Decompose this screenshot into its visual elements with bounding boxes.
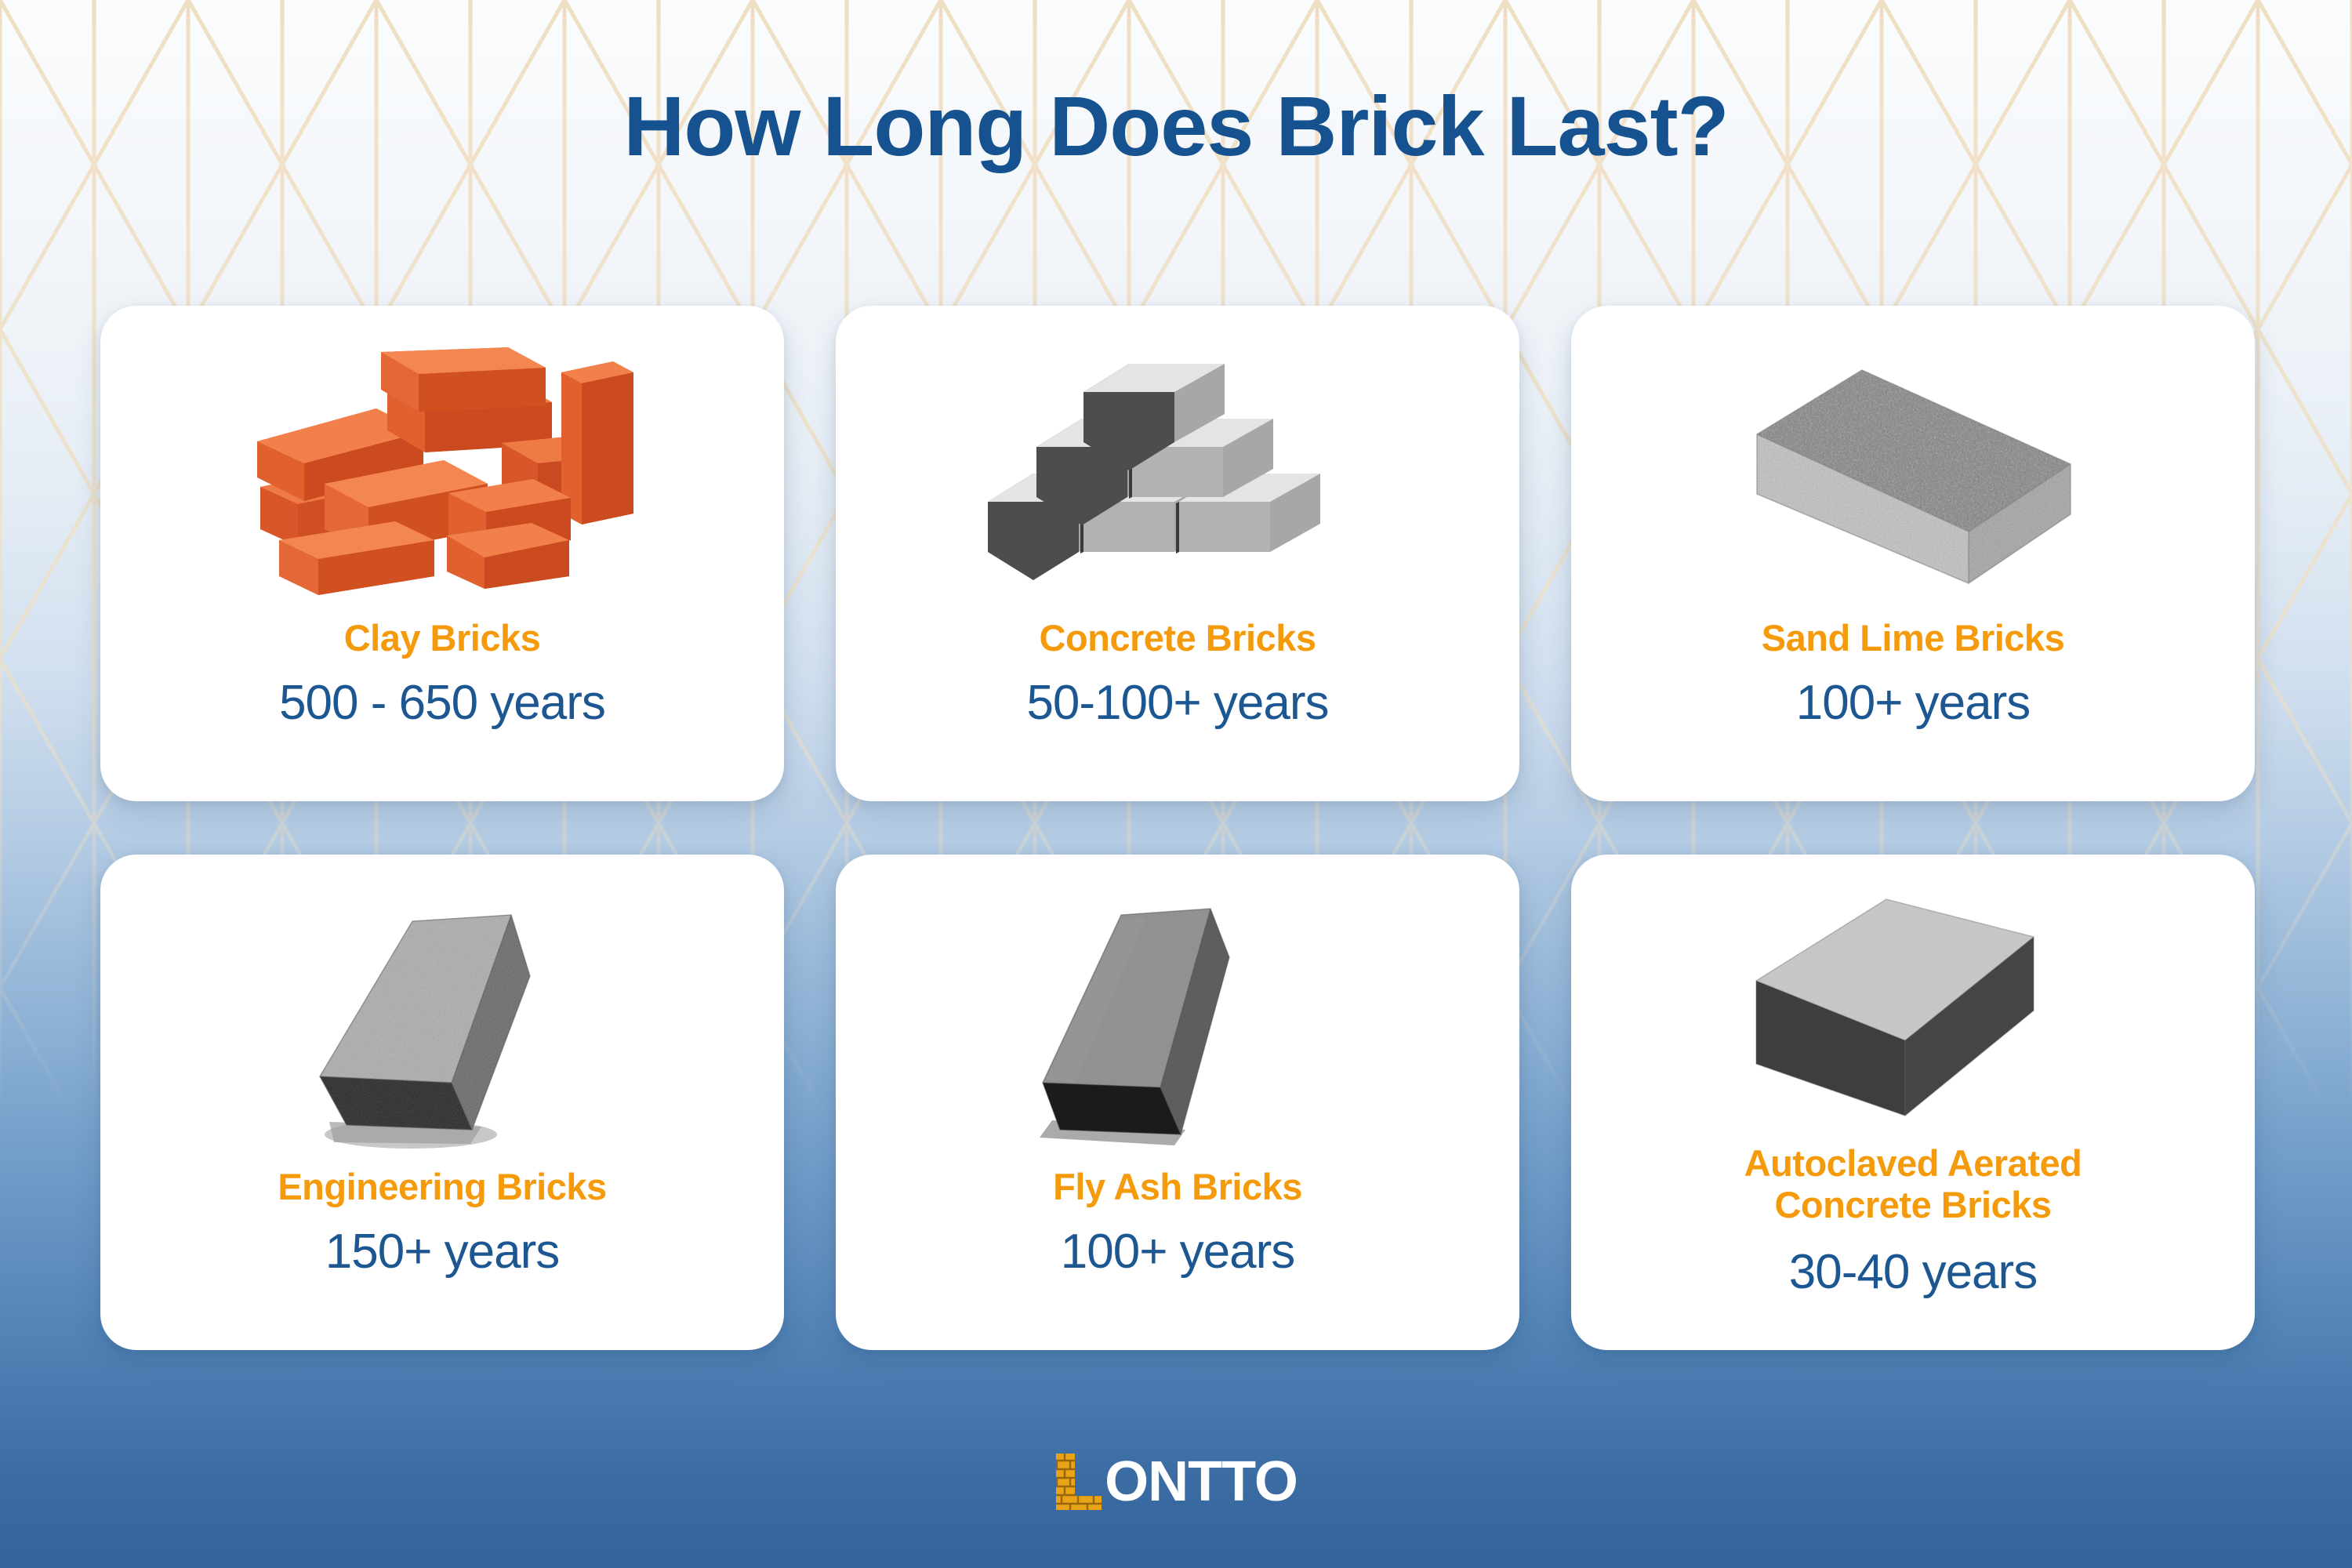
card-title-line-2: Concrete Bricks [1744,1185,2082,1226]
card-fly-ash-bricks[interactable]: Fly Ash Bricks 100+ years [836,855,1519,1350]
card-sand-lime-bricks[interactable]: Sand Lime Bricks 100+ years [1571,306,2255,801]
card-engineering-bricks[interactable]: Engineering Bricks 150+ years [100,855,784,1350]
concrete-brick-pyramid-icon [982,348,1374,599]
fly-ash-block-icon [1021,885,1334,1160]
card-title-autoclaved-aerated-concrete-bricks: Autoclaved Aerated Concrete Bricks [1744,1143,2082,1225]
card-title-fly-ash-bricks: Fly Ash Bricks [1053,1167,1302,1208]
card-title-concrete-bricks: Concrete Bricks [1040,618,1316,659]
card-value-fly-ash-bricks: 100+ years [1061,1225,1295,1279]
brick-type-grid: Clay Bricks 500 - 650 years [100,306,2255,1350]
card-title-line-1: Autoclaved Aerated [1744,1143,2082,1185]
sand-lime-block-icon [1744,348,2082,599]
lontto-brick-l-icon [1054,1452,1103,1512]
clay-brick-pile-icon [238,344,646,603]
engineering-block-icon [285,885,599,1160]
aac-block-art [1592,881,2234,1140]
page-title: How Long Does Brick Last? [0,77,2352,175]
card-value-sand-lime-bricks: 100+ years [1796,677,2031,730]
card-value-engineering-bricks: 150+ years [325,1225,560,1279]
aac-block-icon [1748,893,2078,1128]
card-autoclaved-aerated-concrete-bricks[interactable]: Autoclaved Aerated Concrete Bricks 30-40… [1571,855,2255,1350]
card-title-sand-lime-bricks: Sand Lime Bricks [1762,618,2064,659]
card-clay-bricks[interactable]: Clay Bricks 500 - 650 years [100,306,784,801]
sand-lime-block-art [1592,332,2234,615]
card-value-autoclaved-aerated-concrete-bricks: 30-40 years [1789,1246,2037,1299]
engineering-block-art [121,881,764,1163]
card-title-engineering-bricks: Engineering Bricks [278,1167,606,1208]
fly-ash-block-art [856,881,1499,1163]
card-value-concrete-bricks: 50-100+ years [1026,677,1328,730]
lontto-logo[interactable]: ONTTO [0,1452,2352,1512]
lontto-logo-text: ONTTO [1105,1454,1298,1510]
clay-brick-pile-art [121,332,764,615]
concrete-brick-pyramid-art [856,332,1499,615]
card-value-clay-bricks: 500 - 650 years [279,677,605,730]
card-title-clay-bricks: Clay Bricks [344,618,541,659]
card-concrete-bricks[interactable]: Concrete Bricks 50-100+ years [836,306,1519,801]
